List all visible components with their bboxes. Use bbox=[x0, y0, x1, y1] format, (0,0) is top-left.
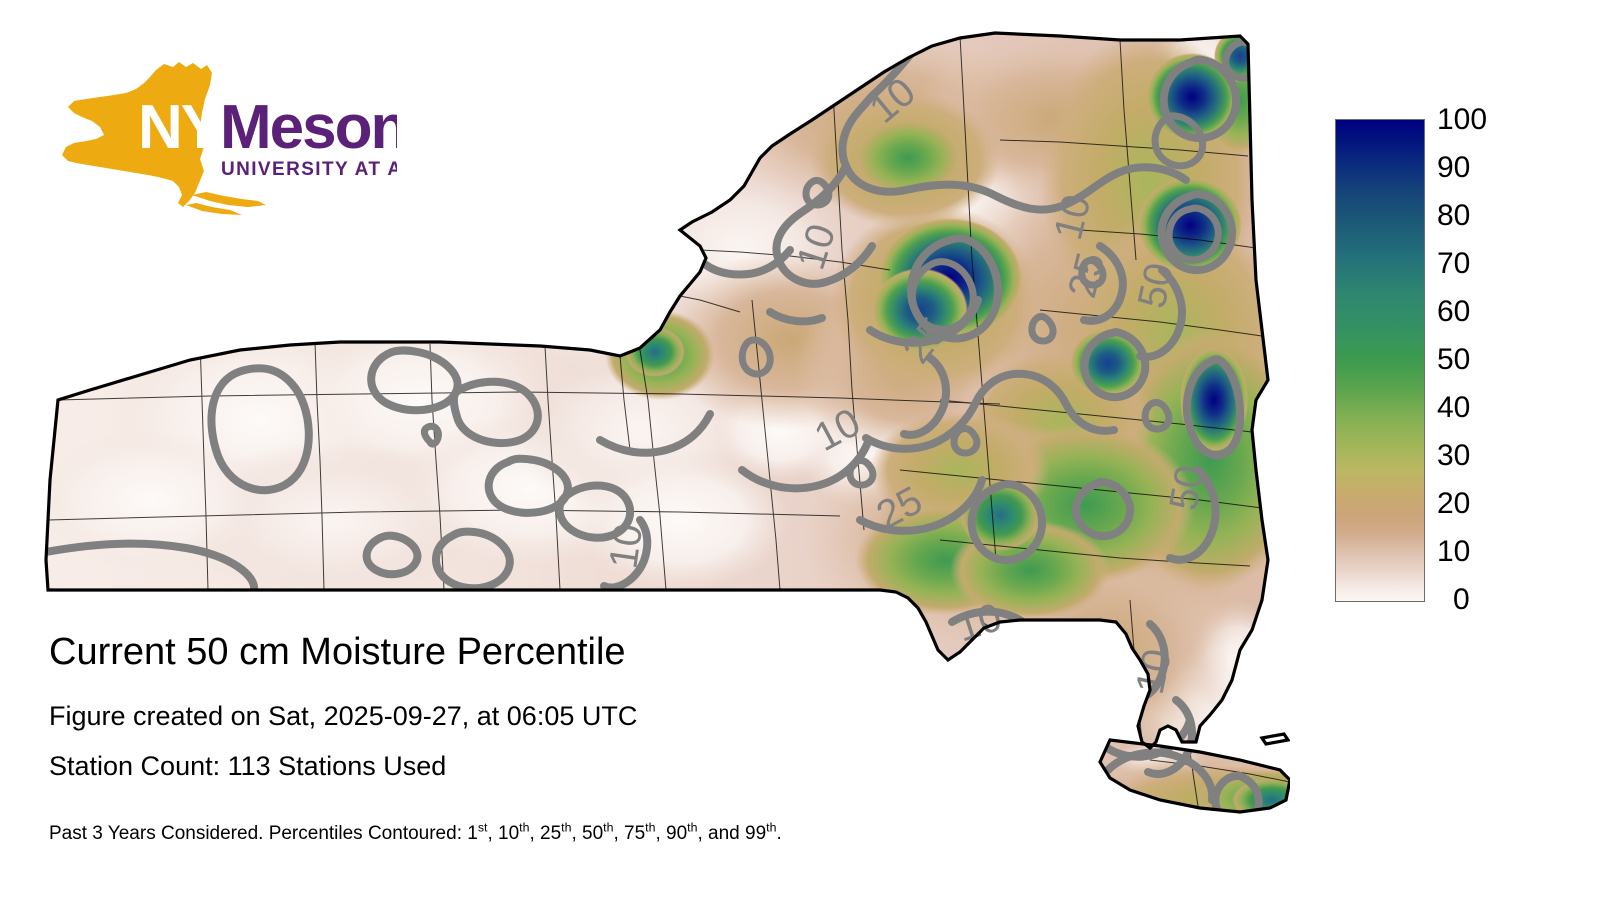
contour-label-50-a: 50 bbox=[1130, 259, 1182, 312]
footnote-value-7: 99 bbox=[745, 823, 766, 844]
station-count-text: Station Count: 113 Stations Used bbox=[49, 750, 446, 782]
colorbar-tick-100: 100 bbox=[1437, 105, 1487, 135]
colorbar-gradient bbox=[1335, 119, 1425, 602]
colorbar: 100 90 80 70 60 50 40 30 20 10 0 bbox=[1335, 119, 1585, 609]
figure-created-text: Figure created on Sat, 2025-09-27, at 06… bbox=[49, 700, 637, 732]
footnote-value-1: 1 bbox=[467, 823, 478, 844]
page-title: Current 50 cm Moisture Percentile bbox=[49, 630, 626, 674]
contour-label-10-e: 10 bbox=[601, 521, 651, 571]
footnote-ord-1: st bbox=[478, 821, 488, 835]
footnote-value-4: 50 bbox=[582, 823, 603, 844]
colorbar-tick-40: 40 bbox=[1437, 393, 1470, 423]
footnote-sep-1: , bbox=[487, 823, 498, 844]
footnote-ord-3: th bbox=[561, 821, 571, 835]
footnote-period: . bbox=[776, 823, 781, 844]
footnote-sep-6: , bbox=[697, 823, 708, 844]
footnote-ord-4: th bbox=[603, 821, 613, 835]
footnote-ord-5: th bbox=[645, 821, 655, 835]
footnote-lead: Past 3 Years Considered. Percentiles Con… bbox=[49, 823, 467, 844]
colorbar-tick-20: 20 bbox=[1437, 489, 1470, 519]
footnote-sep-2: , bbox=[529, 823, 540, 844]
footnote-value-3: 25 bbox=[540, 823, 561, 844]
footnote-ord-6: th bbox=[687, 821, 697, 835]
colorbar-tick-30: 30 bbox=[1437, 441, 1470, 471]
footnote-sep-3: , bbox=[571, 823, 582, 844]
percentiles-footnote: Past 3 Years Considered. Percentiles Con… bbox=[49, 822, 782, 846]
contour-label-50-b: 50 bbox=[1162, 462, 1213, 513]
footnote-sep-4: , bbox=[613, 823, 624, 844]
colorbar-tick-0: 0 bbox=[1453, 585, 1470, 615]
footnote-conjunction: and bbox=[708, 823, 745, 844]
colorbar-tick-90: 90 bbox=[1437, 153, 1470, 183]
colorbar-tick-70: 70 bbox=[1437, 249, 1470, 279]
footnote-value-2: 10 bbox=[498, 823, 519, 844]
colorbar-tick-80: 80 bbox=[1437, 201, 1470, 231]
footnote-ord-7: th bbox=[766, 821, 776, 835]
footnote-ord-2: th bbox=[519, 821, 529, 835]
footnote-sep-5: , bbox=[655, 823, 666, 844]
footnote-value-5: 75 bbox=[624, 823, 645, 844]
footnote-value-6: 90 bbox=[666, 823, 687, 844]
colorbar-tick-60: 60 bbox=[1437, 297, 1470, 327]
colorbar-tick-50: 50 bbox=[1437, 345, 1470, 375]
colorbar-tick-labels: 100 90 80 70 60 50 40 30 20 10 0 bbox=[1437, 97, 1577, 627]
colorbar-tick-10: 10 bbox=[1437, 537, 1470, 567]
